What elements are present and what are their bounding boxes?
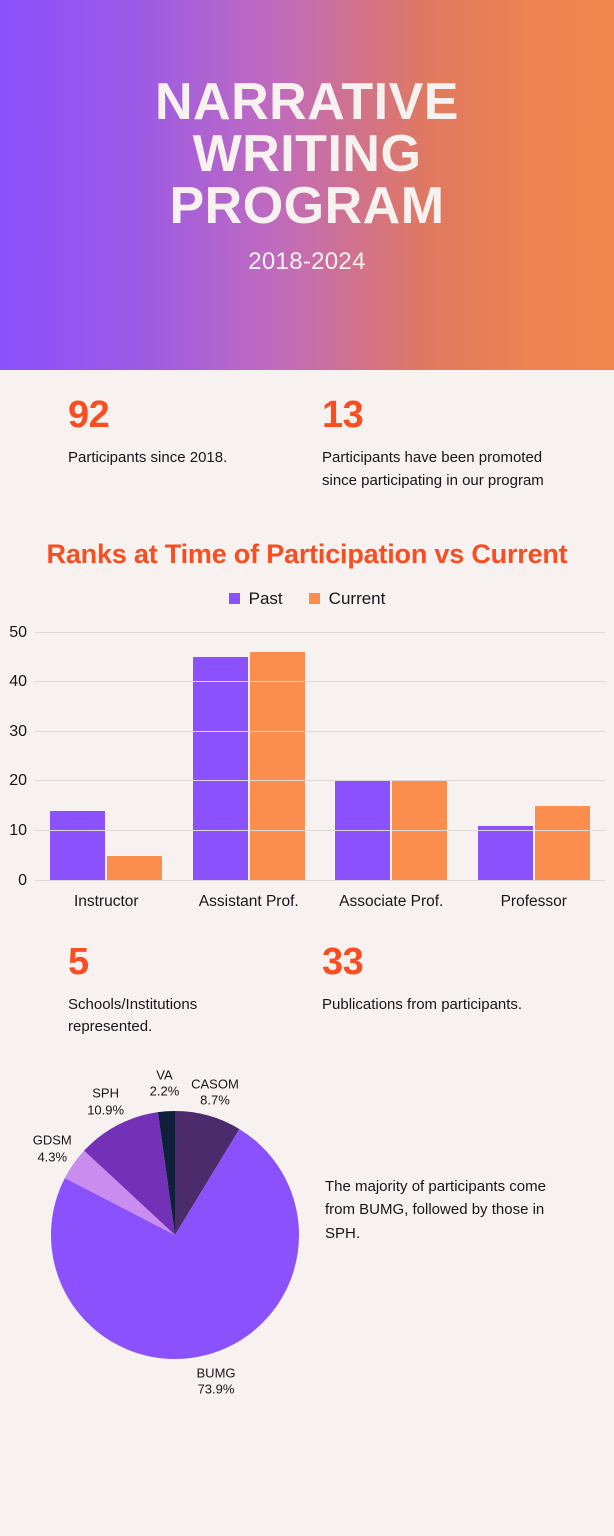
y-axis-tick: 50 bbox=[9, 624, 27, 642]
pie-chart-note: The majority of participants come from B… bbox=[325, 1175, 555, 1245]
bottom-stats-row: 5 Schools/Institutions represented. 33 P… bbox=[0, 919, 614, 1040]
stat-caption: Participants have been promoted since pa… bbox=[322, 447, 554, 493]
bar-current[interactable] bbox=[535, 806, 590, 880]
gridline bbox=[35, 731, 605, 732]
y-axis-tick: 0 bbox=[18, 872, 27, 890]
bar-past[interactable] bbox=[193, 657, 248, 880]
x-axis-label: Assistant Prof. bbox=[178, 893, 321, 911]
x-axis-label: Associate Prof. bbox=[320, 893, 463, 911]
y-axis-tick: 30 bbox=[9, 723, 27, 741]
pie-chart: CASOM8.7%BUMG73.9%GDSM4.3%SPH10.9%VA2.2% bbox=[10, 1055, 310, 1405]
bar-past[interactable] bbox=[478, 826, 533, 881]
pie-label-value: 4.3% bbox=[33, 1149, 72, 1166]
stat-number: 33 bbox=[322, 943, 524, 981]
pie-chart-svg bbox=[50, 1110, 300, 1360]
pie-label-gdsm: GDSM4.3% bbox=[33, 1132, 72, 1165]
pie-label-name: GDSM bbox=[33, 1132, 72, 1149]
title-line-3: PROGRAM bbox=[155, 180, 459, 232]
gridline bbox=[35, 780, 605, 781]
y-axis-tick: 40 bbox=[9, 673, 27, 691]
y-axis-tick: 20 bbox=[9, 772, 27, 790]
legend-item-past: Past bbox=[229, 589, 283, 609]
bar-group bbox=[35, 633, 178, 881]
legend-label: Past bbox=[249, 589, 283, 609]
stat-number: 92 bbox=[68, 396, 258, 434]
stat-card-publications: 33 Publications from participants. bbox=[258, 943, 614, 1040]
x-axis-label: Professor bbox=[463, 893, 606, 911]
gridline bbox=[35, 830, 605, 831]
bar-chart-title: Ranks at Time of Participation vs Curren… bbox=[22, 537, 592, 571]
stat-number: 13 bbox=[322, 396, 554, 434]
pie-label-name: SPH bbox=[87, 1086, 124, 1103]
title-line-2: WRITING bbox=[155, 128, 459, 180]
pie-label-value: 2.2% bbox=[150, 1084, 180, 1101]
pie-label-name: BUMG bbox=[197, 1365, 236, 1382]
stat-caption: Publications from participants. bbox=[322, 994, 524, 1017]
gridline bbox=[35, 880, 605, 881]
top-stats-row: 92 Participants since 2018. 13 Participa… bbox=[0, 370, 614, 493]
pie-label-bumg: BUMG73.9% bbox=[197, 1365, 236, 1398]
pie-label-sph: SPH10.9% bbox=[87, 1086, 124, 1119]
hero-banner: NARRATIVE WRITING PROGRAM 2018-2024 bbox=[0, 0, 614, 370]
stat-card-promotions: 13 Participants have been promoted since… bbox=[258, 396, 614, 493]
bar-group bbox=[320, 633, 463, 881]
stat-number: 5 bbox=[68, 943, 258, 981]
bar-group bbox=[463, 633, 606, 881]
bar-chart-legend: PastCurrent bbox=[0, 589, 614, 609]
pie-label-value: 10.9% bbox=[87, 1102, 124, 1119]
pie-label-name: CASOM bbox=[191, 1076, 239, 1093]
bar-chart: 01020304050 InstructorAssistant Prof.Ass… bbox=[0, 623, 614, 919]
gridline bbox=[35, 632, 605, 633]
y-axis-tick: 10 bbox=[9, 822, 27, 840]
pie-label-va: VA2.2% bbox=[150, 1067, 180, 1100]
bar-x-axis-labels: InstructorAssistant Prof.Associate Prof.… bbox=[35, 893, 605, 911]
pie-label-name: VA bbox=[150, 1067, 180, 1084]
pie-label-value: 73.9% bbox=[197, 1382, 236, 1399]
bar-plot-area: 01020304050 bbox=[35, 633, 605, 881]
pie-label-casom: CASOM8.7% bbox=[191, 1076, 239, 1109]
bar-current[interactable] bbox=[250, 652, 305, 880]
bar-group bbox=[178, 633, 321, 881]
stat-card-participants: 92 Participants since 2018. bbox=[0, 396, 258, 493]
bar-past[interactable] bbox=[50, 811, 105, 880]
infographic-page: NARRATIVE WRITING PROGRAM 2018-2024 92 P… bbox=[0, 0, 614, 1536]
stat-caption: Schools/Institutions represented. bbox=[68, 994, 258, 1040]
gridline bbox=[35, 681, 605, 682]
legend-swatch-icon bbox=[229, 593, 240, 604]
stat-card-schools: 5 Schools/Institutions represented. bbox=[0, 943, 258, 1040]
page-title: NARRATIVE WRITING PROGRAM bbox=[155, 76, 459, 232]
page-subtitle: 2018-2024 bbox=[248, 248, 365, 276]
x-axis-label: Instructor bbox=[35, 893, 178, 911]
legend-item-current: Current bbox=[309, 589, 386, 609]
bar-past[interactable] bbox=[335, 781, 390, 880]
bar-current[interactable] bbox=[392, 781, 447, 880]
stat-caption: Participants since 2018. bbox=[68, 447, 258, 470]
bar-current[interactable] bbox=[107, 856, 162, 881]
bar-groups bbox=[35, 633, 605, 881]
title-line-1: NARRATIVE bbox=[155, 76, 459, 128]
pie-chart-section: CASOM8.7%BUMG73.9%GDSM4.3%SPH10.9%VA2.2%… bbox=[0, 1047, 614, 1407]
legend-label: Current bbox=[329, 589, 386, 609]
pie-label-value: 8.7% bbox=[191, 1093, 239, 1110]
legend-swatch-icon bbox=[309, 593, 320, 604]
